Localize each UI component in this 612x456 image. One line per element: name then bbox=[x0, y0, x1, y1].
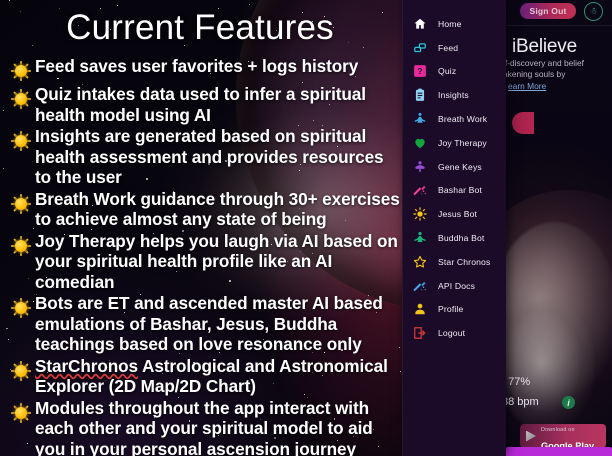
stat-bpm: 38 bpm bbox=[502, 396, 539, 408]
menu-item-buddha-bot[interactable]: Buddha Bot bbox=[402, 226, 506, 250]
feature-bullet: Feed saves user favorites + logs history bbox=[10, 56, 402, 83]
quiz-icon: ? bbox=[413, 64, 427, 78]
menu-item-api-docs[interactable]: API Docs bbox=[402, 274, 506, 298]
sign-out-button[interactable]: Sign Out bbox=[520, 3, 576, 19]
feature-bullet-text: Modules throughout the app interact with… bbox=[35, 398, 402, 456]
menu-item-bashar-bot[interactable]: Bashar Bot bbox=[402, 179, 506, 203]
app-figure-graphic-secondary bbox=[498, 300, 594, 430]
sun-icon bbox=[10, 193, 32, 216]
sun-icon bbox=[10, 88, 32, 111]
sun-icon bbox=[10, 297, 32, 320]
feature-bullet-text: Bots are ET and ascended master AI based… bbox=[35, 293, 402, 355]
menu-item-label: Star Chronos bbox=[438, 257, 490, 267]
star bbox=[3, 168, 4, 169]
app-tagline-line-1: lf-discovery and belief bbox=[503, 58, 584, 68]
google-play-icon bbox=[526, 431, 536, 442]
menu-item-logout[interactable]: Logout bbox=[402, 321, 506, 345]
drawer-left-edge bbox=[402, 0, 403, 456]
menu-item-gene-keys[interactable]: Gene Keys bbox=[402, 155, 506, 179]
menu-item-label: Gene Keys bbox=[438, 162, 482, 172]
feature-bullet: Insights are generated based on spiritua… bbox=[10, 126, 402, 188]
sun-icon bbox=[10, 130, 32, 153]
menu-item-label: Feed bbox=[438, 43, 458, 53]
buddha-icon bbox=[413, 231, 427, 245]
learn-more-link[interactable]: earn More bbox=[508, 81, 546, 91]
navigation-menu-list: HomeFeed?QuizInsightsBreath WorkJoy Ther… bbox=[402, 0, 506, 345]
menu-item-label: Buddha Bot bbox=[438, 233, 484, 243]
menu-item-label: API Docs bbox=[438, 281, 475, 291]
menu-item-star-chronos[interactable]: Star Chronos bbox=[402, 250, 506, 274]
star bbox=[8, 339, 9, 340]
menu-item-joy-therapy[interactable]: Joy Therapy bbox=[402, 131, 506, 155]
menu-item-label: Bashar Bot bbox=[438, 185, 482, 195]
feature-bullet-text: Quiz intakes data used to infer a spirit… bbox=[35, 84, 402, 125]
menu-item-home[interactable]: Home bbox=[402, 12, 506, 36]
stat-percent: : 77% bbox=[502, 376, 530, 388]
sun-icon bbox=[10, 235, 32, 258]
sun-icon bbox=[10, 402, 32, 425]
menu-item-label: Profile bbox=[438, 304, 463, 314]
app-tagline-line-2: akening souls by bbox=[503, 69, 565, 79]
feature-bullet-text: StarChronos Astrological and Astronomica… bbox=[35, 356, 402, 397]
feature-bullet: Bots are ET and ascended master AI based… bbox=[10, 293, 402, 355]
menu-item-label: Jesus Bot bbox=[438, 209, 477, 219]
svg-text:?: ? bbox=[418, 67, 423, 76]
person-icon bbox=[413, 302, 427, 316]
menu-item-label: Joy Therapy bbox=[438, 138, 487, 148]
home-icon bbox=[413, 17, 427, 31]
feed-icon bbox=[413, 41, 427, 55]
menu-item-jesus-bot[interactable]: Jesus Bot bbox=[402, 202, 506, 226]
star bbox=[6, 328, 7, 329]
google-play-top-label: Download on bbox=[541, 427, 575, 433]
app-header-divider bbox=[498, 25, 612, 26]
star bbox=[9, 0, 10, 1]
menu-item-breath-work[interactable]: Breath Work bbox=[402, 107, 506, 131]
info-icon[interactable]: i bbox=[562, 396, 575, 409]
menu-item-feed[interactable]: Feed bbox=[402, 36, 506, 60]
menu-item-label: Home bbox=[438, 19, 462, 29]
feature-bullet: Modules throughout the app interact with… bbox=[10, 398, 402, 456]
star-icon bbox=[413, 255, 427, 269]
star bbox=[249, 4, 250, 5]
menu-item-label: Logout bbox=[438, 328, 465, 338]
clipboard-icon bbox=[413, 88, 427, 102]
feature-bullet-text: Insights are generated based on spiritua… bbox=[35, 126, 402, 188]
feature-bullet: Joy Therapy helps you laugh via AI based… bbox=[10, 231, 402, 293]
feature-bullet: Breath Work guidance through 30+ exercis… bbox=[10, 189, 402, 230]
page-title: Current Features bbox=[0, 6, 400, 50]
app-accent-pill bbox=[512, 112, 534, 134]
menu-item-label: Quiz bbox=[438, 66, 456, 76]
feature-bullet-list: Feed saves user favorites + logs history… bbox=[10, 56, 402, 456]
logout-icon bbox=[413, 326, 427, 340]
gene-key-icon bbox=[413, 160, 427, 174]
menu-item-label: Breath Work bbox=[438, 114, 487, 124]
user-avatar-icon: ☃ bbox=[589, 7, 597, 16]
avatar-button[interactable]: ☃ bbox=[584, 2, 603, 21]
feature-bullet-text: Joy Therapy helps you laugh via AI based… bbox=[35, 231, 402, 293]
feature-bullet-text: Feed saves user favorites + logs history bbox=[35, 56, 358, 77]
magic-wand-icon bbox=[413, 279, 427, 293]
menu-item-insights[interactable]: Insights bbox=[402, 83, 506, 107]
menu-item-label: Insights bbox=[438, 90, 469, 100]
google-play-button[interactable]: Download on Google Play bbox=[520, 424, 606, 448]
feature-bullet-text: Breath Work guidance through 30+ exercis… bbox=[35, 189, 402, 230]
sun-icon bbox=[10, 360, 32, 383]
menu-item-profile[interactable]: Profile bbox=[402, 298, 506, 322]
sun-icon bbox=[413, 207, 427, 221]
app-brand-title: iBelieve bbox=[512, 36, 577, 58]
navigation-drawer[interactable]: HomeFeed?QuizInsightsBreath WorkJoy Ther… bbox=[402, 0, 506, 456]
feature-bullet: Quiz intakes data used to infer a spirit… bbox=[10, 84, 402, 125]
spellcheck-word: StarChronos bbox=[35, 356, 138, 376]
heart-icon bbox=[413, 136, 427, 150]
menu-item-quiz[interactable]: ?Quiz bbox=[402, 60, 506, 84]
star bbox=[3, 110, 4, 111]
meditation-icon bbox=[413, 112, 427, 126]
bottom-accent-bar bbox=[506, 447, 612, 456]
magic-wand-icon bbox=[413, 183, 427, 197]
sun-icon bbox=[10, 60, 32, 83]
feature-bullet: StarChronos Astrological and Astronomica… bbox=[10, 356, 402, 397]
slide-root: Sign Out ☃ iBelieve lf-discovery and bel… bbox=[0, 0, 612, 456]
